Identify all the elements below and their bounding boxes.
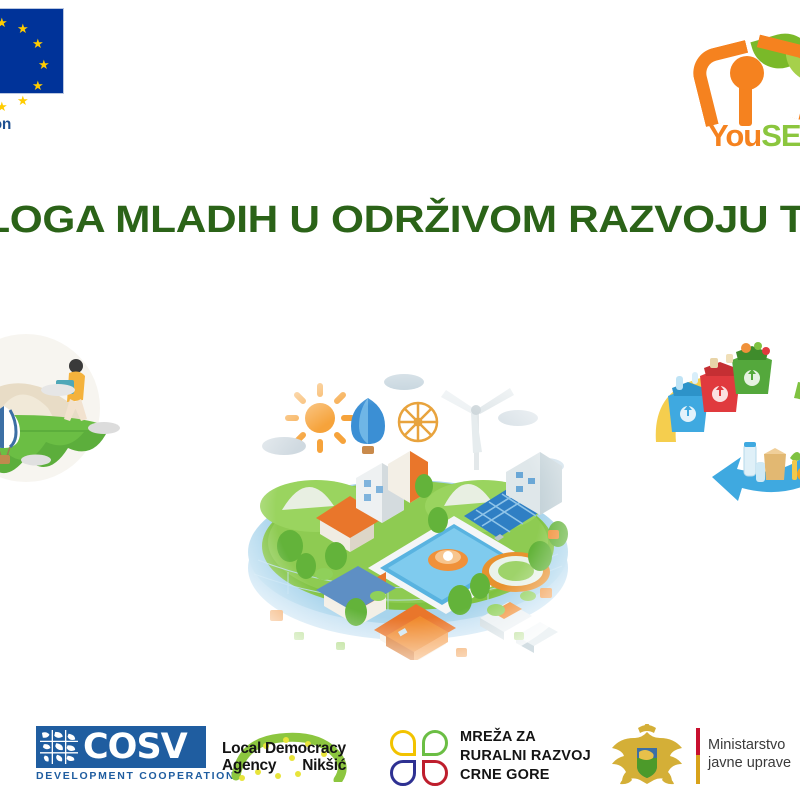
eu-star-icon: ★ <box>32 38 43 49</box>
eu-funding-line-2: ean Union <box>0 116 64 133</box>
lda-line-2-city: Nikšić <box>302 757 346 774</box>
mark-yellow <box>390 730 416 756</box>
mrr-wordmark: MREŽA ZA RURALNI RAZVOJ CRNE GORE <box>460 728 591 785</box>
eu-star-icon: ★ <box>17 95 28 106</box>
slide-title: ULOGA MLADIH U ODRŽIVOM RAZVOJU TURIZMA <box>0 196 800 244</box>
world-map-icon <box>36 726 82 768</box>
lda-line-2: AgencyNikšić <box>222 757 346 775</box>
eu-funding-logo: ★ ★ ★ ★ ★ ★ ★ ★ ★ ★ ★ ★ ed by ean Union <box>0 8 64 133</box>
ministry-line-2: javne uprave <box>708 754 791 772</box>
logo-lda-niksic: Local Democracy AgencyNikšić <box>216 728 374 786</box>
red-gold-bar <box>696 728 700 784</box>
montenegro-coat-of-arms-icon <box>604 724 690 788</box>
sustainable-city-illustration <box>228 360 588 660</box>
yousee-word-you: You <box>708 118 761 153</box>
recycling-bins <box>668 342 772 432</box>
ministry-line-1: Ministarstvo <box>708 736 791 754</box>
eu-flag-icon: ★ ★ ★ ★ ★ ★ ★ ★ ★ ★ ★ ★ <box>0 8 64 94</box>
yousee-logo: YouSEE <box>684 18 800 148</box>
partner-logos-row: COSV DEVELOPMENT COOPERATION Local Democ… <box>0 714 800 800</box>
cosv-tagline: DEVELOPMENT COOPERATION <box>36 770 206 782</box>
mrr-line-1: MREŽA ZA <box>460 728 591 747</box>
recycling-cycle-svg <box>648 338 800 508</box>
lda-line-2-agency: Agency <box>222 757 276 774</box>
eu-stars-group: ★ ★ ★ ★ ★ ★ ★ ★ ★ ★ ★ ★ <box>0 9 65 95</box>
mark-green <box>422 730 448 756</box>
yousee-word-see: SEE <box>761 118 800 153</box>
four-leaf-mark-icon <box>390 730 452 786</box>
eco-tourism-illustration <box>0 330 138 520</box>
world-map-svg <box>40 730 78 764</box>
logo-mreza-ruralni-razvoj: MREŽA ZA RURALNI RAZVOJ CRNE GORE <box>390 728 590 788</box>
mrr-line-3: CRNE GORE <box>460 766 591 785</box>
eu-star-icon: ★ <box>0 17 7 28</box>
eu-funding-line-1: ed by <box>0 99 64 116</box>
mark-blue <box>390 760 416 786</box>
yousee-wordmark: YouSEE <box>708 118 800 154</box>
eu-star-icon: ★ <box>32 80 43 91</box>
eco-tourism-svg <box>0 330 138 520</box>
eu-star-icon: ★ <box>0 101 7 112</box>
figure-head <box>730 56 764 90</box>
ministry-wordmark: Ministarstvo javne uprave <box>708 736 791 772</box>
cosv-badge: COSV <box>36 726 206 768</box>
recycling-cycle-illustration <box>648 338 800 508</box>
cosv-wordmark: COSV <box>82 726 206 768</box>
eu-star-icon: ★ <box>17 23 28 34</box>
presentation-slide: ★ ★ ★ ★ ★ ★ ★ ★ ★ ★ ★ ★ ed by ean Union <box>0 0 800 800</box>
eu-star-icon: ★ <box>38 59 49 70</box>
logo-cosv: COSV DEVELOPMENT COOPERATION <box>36 726 206 782</box>
logo-ministarstvo-javne-uprave: Ministarstvo javne uprave <box>604 724 794 788</box>
lda-line-1: Local Democracy <box>222 740 346 758</box>
sustainable-city-svg <box>228 360 588 660</box>
mark-red <box>422 760 448 786</box>
yousee-figure-icon <box>692 40 800 120</box>
mrr-line-2: RURALNI RAZVOJ <box>460 747 591 766</box>
